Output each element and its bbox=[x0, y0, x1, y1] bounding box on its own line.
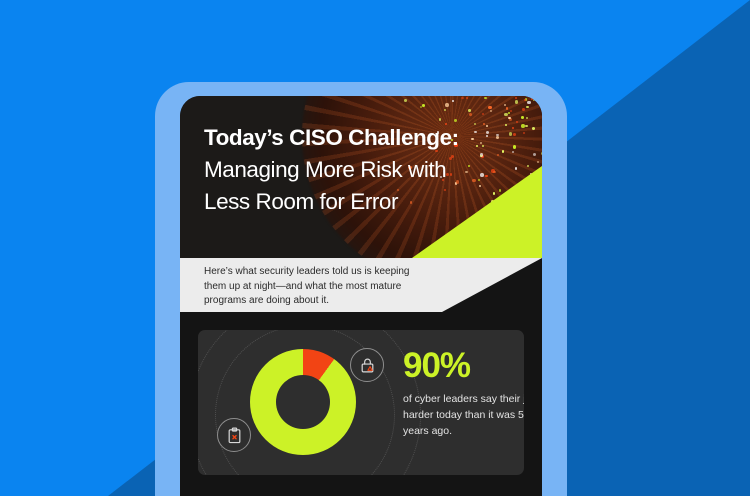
stat-card: 90% of cyber leaders say their job is ha… bbox=[198, 330, 524, 475]
stat-number: 90% bbox=[403, 348, 524, 383]
section-heading: Top causes of sleepless nights: bbox=[198, 475, 524, 496]
hero-banner: Today’s CISO Challenge: Managing More Ri… bbox=[180, 96, 542, 258]
hero-text-block: Today’s CISO Challenge: Managing More Ri… bbox=[180, 96, 542, 218]
device-frame: Today’s CISO Challenge: Managing More Ri… bbox=[155, 82, 567, 496]
stat-text-block: 90% of cyber leaders say their job is ha… bbox=[403, 348, 524, 440]
page-title-line-1: Today’s CISO Challenge: bbox=[204, 122, 542, 154]
intro-text: Here’s what security leaders told us is … bbox=[180, 258, 420, 309]
intro-band: Here’s what security leaders told us is … bbox=[180, 258, 542, 312]
page-title-line-2: Managing More Risk with bbox=[204, 154, 542, 186]
content-body: 90% of cyber leaders say their job is ha… bbox=[180, 312, 542, 496]
clipboard-error-icon bbox=[217, 418, 251, 452]
screenshot-stage: Today’s CISO Challenge: Managing More Ri… bbox=[0, 0, 750, 496]
page-title: Today’s CISO Challenge: Managing More Ri… bbox=[204, 122, 542, 218]
intro-corner-cut bbox=[442, 258, 542, 312]
donut-chart-hole bbox=[276, 375, 330, 429]
stat-description: of cyber leaders say their job is harder… bbox=[403, 392, 524, 440]
lock-warning-icon bbox=[350, 348, 384, 382]
page-title-line-3: Less Room for Error bbox=[204, 186, 542, 218]
device-screen: Today’s CISO Challenge: Managing More Ri… bbox=[180, 96, 542, 496]
donut-chart bbox=[250, 349, 356, 455]
